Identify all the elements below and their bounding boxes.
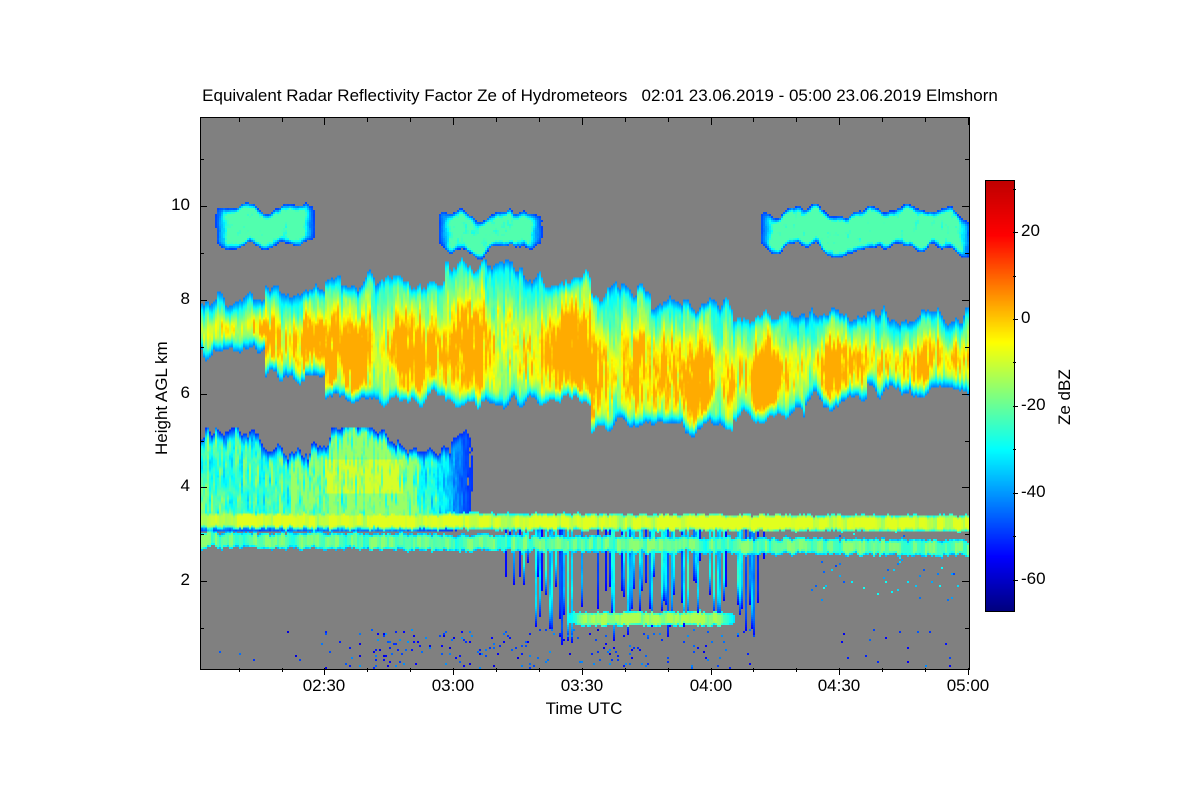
- x-tick-270: [839, 668, 840, 675]
- y-tick-2: [200, 581, 207, 582]
- x-tick-top-180: [453, 118, 454, 125]
- y-tick-right-3: [965, 534, 969, 535]
- x-tick-top-250: [753, 118, 754, 122]
- x-tick-top-240: [711, 118, 712, 125]
- colorbar-tick--20: [1013, 406, 1018, 407]
- x-tick-top-280: [882, 118, 883, 122]
- colorbar-tick--10: [1013, 362, 1016, 363]
- y-tick-11: [200, 159, 204, 160]
- y-tick-right-4: [962, 487, 969, 488]
- y-tick-5: [200, 441, 204, 442]
- colorbar-tick-20: [1013, 232, 1018, 233]
- radar-heatmap: [201, 118, 969, 669]
- x-tick-top-190: [496, 118, 497, 122]
- x-tick-300: [968, 668, 969, 675]
- colorbar-tick--60: [1013, 580, 1018, 581]
- x-tick-180: [453, 668, 454, 675]
- x-tick-260: [796, 668, 797, 672]
- x-tick-top-210: [582, 118, 583, 125]
- y-tick-label-10: 10: [150, 195, 190, 215]
- x-tick-label-0330: 03:30: [542, 676, 622, 696]
- x-tick-top-140: [282, 118, 283, 122]
- y-tick-right-7: [965, 347, 969, 348]
- x-tick-top-270: [839, 118, 840, 125]
- x-tick-190: [496, 668, 497, 672]
- x-tick-160: [367, 668, 368, 672]
- y-tick-4: [200, 487, 207, 488]
- figure-root: Equivalent Radar Reflectivity Factor Ze …: [0, 0, 1200, 800]
- y-tick-right-2: [962, 581, 969, 582]
- x-tick-230: [668, 668, 669, 672]
- x-tick-150: [324, 668, 325, 675]
- y-tick-right-10: [962, 206, 969, 207]
- colorbar-tick-label--20: -20: [1021, 395, 1046, 415]
- radar-plot-area[interactable]: [200, 117, 970, 670]
- colorbar-tick-label--60: -60: [1021, 569, 1046, 589]
- x-tick-130: [239, 668, 240, 672]
- x-tick-290: [925, 668, 926, 672]
- y-tick-8: [200, 300, 207, 301]
- x-tick-top-150: [324, 118, 325, 125]
- x-tick-240: [711, 668, 712, 675]
- x-tick-220: [625, 668, 626, 672]
- y-tick-7: [200, 347, 204, 348]
- y-tick-right-8: [962, 300, 969, 301]
- x-tick-label-0500: 05:00: [928, 676, 1008, 696]
- x-tick-top-230: [668, 118, 669, 122]
- y-tick-9: [200, 253, 204, 254]
- x-tick-top-300: [968, 118, 969, 125]
- colorbar-tick-label-0: 0: [1021, 308, 1030, 328]
- colorbar-tick--30: [1013, 449, 1016, 450]
- x-tick-140: [282, 668, 283, 672]
- x-tick-top-260: [796, 118, 797, 122]
- figure-title: Equivalent Radar Reflectivity Factor Ze …: [0, 86, 1200, 106]
- y-tick-label-4: 4: [150, 476, 190, 496]
- y-tick-10: [200, 206, 207, 207]
- x-tick-top-170: [410, 118, 411, 122]
- x-tick-label-0300: 03:00: [413, 676, 493, 696]
- x-tick-280: [882, 668, 883, 672]
- x-tick-label-0230: 02:30: [284, 676, 364, 696]
- y-tick-label-2: 2: [150, 570, 190, 590]
- x-tick-top-130: [239, 118, 240, 122]
- colorbar-gradient: [986, 181, 1014, 611]
- colorbar[interactable]: [985, 180, 1015, 612]
- y-tick-right-5: [965, 441, 969, 442]
- x-tick-210: [582, 668, 583, 675]
- x-tick-top-220: [625, 118, 626, 122]
- y-tick-right-9: [965, 253, 969, 254]
- colorbar-tick-label--40: -40: [1021, 482, 1046, 502]
- colorbar-tick-10: [1013, 276, 1016, 277]
- x-tick-200: [539, 668, 540, 672]
- x-axis-title: Time UTC: [200, 699, 968, 719]
- x-tick-top-200: [539, 118, 540, 122]
- colorbar-tick--40: [1013, 493, 1018, 494]
- y-tick-6: [200, 394, 207, 395]
- x-tick-label-0400: 04:00: [671, 676, 751, 696]
- y-tick-label-8: 8: [150, 289, 190, 309]
- colorbar-tick-label-20: 20: [1021, 221, 1040, 241]
- x-tick-170: [410, 668, 411, 672]
- x-tick-label-0430: 04:30: [799, 676, 879, 696]
- colorbar-tick--50: [1013, 536, 1016, 537]
- y-axis-title: Height AGL km: [152, 341, 172, 455]
- y-tick-1: [200, 628, 204, 629]
- x-tick-250: [753, 668, 754, 672]
- x-tick-top-290: [925, 118, 926, 122]
- y-tick-right-11: [965, 159, 969, 160]
- radar-heatmap-canvas: [201, 118, 969, 669]
- colorbar-tick-0: [1013, 319, 1018, 320]
- y-tick-3: [200, 534, 204, 535]
- y-tick-right-1: [965, 628, 969, 629]
- colorbar-tick-30: [1013, 189, 1016, 190]
- x-tick-top-160: [367, 118, 368, 122]
- y-tick-right-6: [962, 394, 969, 395]
- colorbar-title: Ze dBZ: [1055, 369, 1075, 425]
